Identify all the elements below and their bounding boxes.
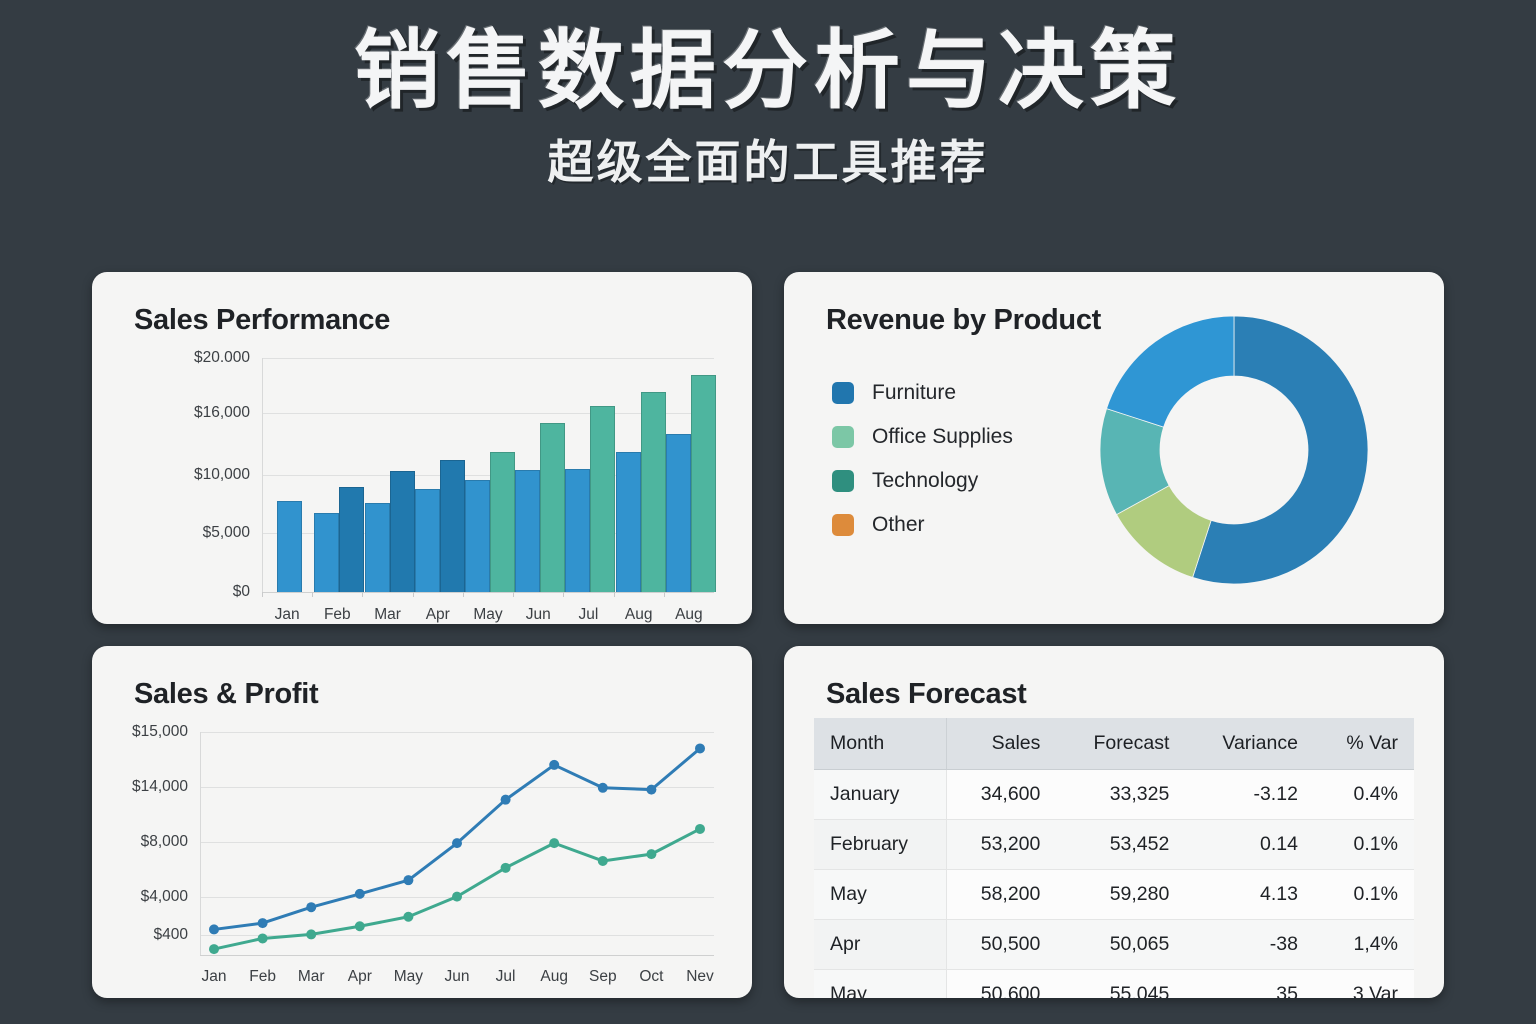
bar-chart-x-tick-label: Jul (579, 606, 599, 624)
bar-chart-x-tick (262, 592, 263, 597)
sales-forecast-table[interactable]: MonthSalesForecastVariance% Var January3… (814, 718, 1414, 998)
table-cell: 53,200 (946, 820, 1056, 870)
line-chart-data-point[interactable]: Sales Mar: 3000 (306, 902, 316, 912)
table-header-row: MonthSalesForecastVariance% Var (814, 718, 1414, 770)
bar-chart-bar[interactable] (641, 392, 666, 592)
table-cell: 58,200 (946, 870, 1056, 920)
bar-chart-x-tick-label: Apr (426, 606, 450, 624)
line-chart-data-point[interactable]: Profit Jan: 130 (209, 944, 219, 954)
donut-legend[interactable]: FurnitureOffice SuppliesTechnologyOther (832, 380, 1013, 556)
card-sales-forecast[interactable]: Sales Forecast MonthSalesForecastVarianc… (784, 646, 1444, 998)
donut-legend-item[interactable]: Furniture (832, 380, 1013, 406)
bar-chart-bar[interactable] (390, 471, 415, 592)
bar-chart-bar[interactable] (339, 487, 364, 592)
bar-chart-x-tick-label: Aug (675, 606, 703, 624)
bar-chart-y-tick-label: $0 (92, 583, 250, 601)
table-row[interactable]: February53,20053,4520.140.1% (814, 820, 1414, 870)
table-cell: 34,600 (946, 770, 1056, 820)
line-chart-data-point[interactable]: Sales Jan: 900 (209, 924, 219, 934)
bar-chart-x-tick-label: Aug (625, 606, 653, 624)
line-chart-x-tick-label: Oct (639, 968, 663, 986)
bar-chart-bar[interactable] (490, 452, 515, 592)
donut-legend-label: Technology (872, 469, 978, 493)
line-chart-data-point[interactable]: Profit Oct: 7100 (646, 849, 656, 859)
table-cell: January (814, 770, 946, 820)
bar-chart-bar[interactable] (666, 434, 691, 592)
table-cell: 53,452 (1056, 820, 1185, 870)
bar-chart-y-tick-label: $10,000 (92, 466, 250, 484)
card-revenue-by-product[interactable]: Revenue by Product FurnitureOffice Suppl… (784, 272, 1444, 624)
legend-color-swatch-icon (832, 470, 854, 492)
bar-chart-x-tick (413, 592, 414, 597)
line-chart-x-tick-label: Feb (249, 968, 276, 986)
bar-chart-x-tick (563, 592, 564, 597)
line-chart-data-point[interactable]: Sales Oct: 13700 (646, 785, 656, 795)
line-chart-data-point[interactable]: Sales Feb: 1500 (258, 918, 268, 928)
table-column-header[interactable]: Sales (946, 718, 1056, 770)
bar-chart-bar[interactable] (565, 469, 590, 592)
table-cell: May (814, 870, 946, 920)
card-title-revenue-by-product: Revenue by Product (826, 304, 1101, 337)
table-cell: 0.1% (1314, 870, 1414, 920)
card-title-sales-performance: Sales Performance (134, 304, 390, 337)
line-chart-x-tick-label: Jan (202, 968, 227, 986)
line-chart-x-tick-label: Sep (589, 968, 617, 986)
table-row[interactable]: May50,60055,045353 Var (814, 970, 1414, 999)
line-chart-data-point[interactable]: Profit May: 2100 (403, 912, 413, 922)
line-chart-data-point[interactable]: Profit Nev: 9400 (695, 824, 705, 834)
bar-chart-x-tick (312, 592, 313, 597)
line-chart-x-tick-label: Jul (496, 968, 516, 986)
line-chart-y-tick-label: $15,000 (92, 723, 188, 741)
table-cell: 4.13 (1185, 870, 1314, 920)
line-chart-x-tick-label: Apr (348, 968, 372, 986)
donut-legend-label: Other (872, 513, 925, 537)
line-chart-x-tick-label: Mar (298, 968, 325, 986)
line-chart-data-point[interactable]: Sales Aug: 14400 (549, 760, 559, 770)
table-cell: -38 (1185, 920, 1314, 970)
bar-chart-plot-area[interactable] (262, 358, 714, 592)
table-body[interactable]: January34,60033,325-3.120.4%February53,2… (814, 770, 1414, 999)
donut-slice[interactable]: Office Supplies: 20% (1107, 316, 1234, 427)
line-chart-data-point[interactable]: Profit Feb: 330 (258, 933, 268, 943)
table-row[interactable]: Apr50,50050,065-381,4% (814, 920, 1414, 970)
table-column-header[interactable]: % Var (1314, 718, 1414, 770)
table-cell: 59,280 (1056, 870, 1185, 920)
line-chart-svg: Sales Jan: 900Sales Feb: 1500Sales Mar: … (200, 732, 714, 956)
line-chart-plot-area[interactable]: Sales Jan: 900Sales Feb: 1500Sales Mar: … (200, 732, 714, 956)
table-cell: 50,065 (1056, 920, 1185, 970)
card-sales-performance[interactable]: Sales Performance $20.000$16,000$10,000$… (92, 272, 752, 624)
line-chart-data-point[interactable]: Profit Jun: 4000 (452, 892, 462, 902)
bar-chart-bar[interactable] (590, 406, 615, 592)
bar-chart-bar[interactable] (415, 489, 440, 592)
table-column-header[interactable]: Month (814, 718, 946, 770)
line-chart-data-point[interactable]: Sales May: 5200 (403, 875, 413, 885)
card-title-sales-forecast: Sales Forecast (826, 678, 1027, 711)
bar-chart-x-tick-label: Feb (324, 606, 351, 624)
donut-legend-label: Furniture (872, 381, 956, 405)
donut-legend-item[interactable]: Other (832, 512, 1013, 538)
line-chart-data-point[interactable]: Sales Apr: 4200 (355, 889, 365, 899)
line-chart-data-point[interactable]: Profit Jul: 6100 (501, 863, 511, 873)
bar-chart-bar[interactable] (314, 513, 339, 592)
line-chart-data-point[interactable]: Sales Sep: 13900 (598, 783, 608, 793)
bar-chart-y-tick-label: $20.000 (92, 349, 250, 367)
bar-chart-x-tick-label: Mar (374, 606, 401, 624)
bar-chart-x-tick (614, 592, 615, 597)
bar-chart-bar[interactable] (515, 470, 540, 592)
card-sales-profit[interactable]: Sales & Profit Sales Jan: 900Sales Feb: … (92, 646, 752, 998)
card-title-sales-profit: Sales & Profit (134, 678, 318, 711)
page-subtitle: 超级全面的工具推荐 (0, 126, 1536, 192)
legend-color-swatch-icon (832, 426, 854, 448)
table-cell: 0.4% (1314, 770, 1414, 820)
line-chart-x-tick-label: May (394, 968, 423, 986)
bar-chart-bar[interactable] (277, 501, 302, 592)
table-row[interactable]: May58,20059,2804.130.1% (814, 870, 1414, 920)
line-chart-data-point[interactable]: Sales Jun: 7900 (452, 838, 462, 848)
line-chart-data-point[interactable]: Profit Aug: 7900 (549, 838, 559, 848)
line-chart-data-point[interactable]: Profit Sep: 6600 (598, 856, 608, 866)
table-cell: 55,045 (1056, 970, 1185, 999)
bar-chart-bar[interactable] (616, 452, 641, 592)
table-cell: Apr (814, 920, 946, 970)
donut-chart-svg: Furniture: 55%Other: 12%Technology: 13%O… (1084, 300, 1384, 600)
line-chart-y-tick-label: $400 (92, 926, 188, 944)
line-chart-y-tick-label: $14,000 (92, 778, 188, 796)
legend-color-swatch-icon (832, 514, 854, 536)
table-cell: -3.12 (1185, 770, 1314, 820)
line-chart-y-tick-label: $8,000 (92, 833, 188, 851)
table-cell: 50,600 (946, 970, 1056, 999)
line-chart-data-point[interactable]: Profit Apr: 1200 (355, 921, 365, 931)
bar-chart-x-tick-label: May (473, 606, 502, 624)
bar-chart-x-tick (463, 592, 464, 597)
bar-chart-bar[interactable] (365, 503, 390, 592)
table-column-header[interactable]: Variance (1185, 718, 1314, 770)
line-chart-x-tick-label: Nev (686, 968, 714, 986)
line-chart-data-point[interactable]: Sales Jul: 12600 (501, 795, 511, 805)
dashboard-card-grid: Sales Performance $20.000$16,000$10,000$… (92, 272, 1444, 998)
dashboard-header: 销售数据分析与决策 超级全面的工具推荐 (0, 0, 1536, 192)
bar-chart-x-tick (513, 592, 514, 597)
donut-legend-item[interactable]: Technology (832, 468, 1013, 494)
table-cell: 0.1% (1314, 820, 1414, 870)
table-cell: 3 Var (1314, 970, 1414, 999)
bar-chart-y-axis-line (262, 358, 263, 592)
donut-legend-label: Office Supplies (872, 425, 1013, 449)
table-column-header[interactable]: Forecast (1056, 718, 1185, 770)
line-chart-y-tick-label: $4,000 (92, 888, 188, 906)
bar-chart-x-tick-label: Jun (526, 606, 551, 624)
bar-chart-bar[interactable] (540, 423, 565, 592)
bar-chart-x-tick (362, 592, 363, 597)
bar-chart-x-tick (664, 592, 665, 597)
line-chart-x-tick-label: Aug (540, 968, 568, 986)
line-chart-x-tick-label: Jun (445, 968, 470, 986)
table-cell: February (814, 820, 946, 870)
table-cell: 0.14 (1185, 820, 1314, 870)
bar-chart-y-tick-label: $5,000 (92, 524, 250, 542)
bar-chart-bar[interactable] (440, 460, 465, 593)
table-cell: 33,325 (1056, 770, 1185, 820)
table-cell: May (814, 970, 946, 999)
line-chart-data-point[interactable]: Profit Mar: 430 (306, 929, 316, 939)
table-cell: 1,4% (1314, 920, 1414, 970)
legend-color-swatch-icon (832, 382, 854, 404)
bar-chart-y-tick-label: $16,000 (92, 404, 250, 422)
bar-chart-bar[interactable] (691, 375, 716, 593)
donut-legend-item[interactable]: Office Supplies (832, 424, 1013, 450)
line-chart-data-point[interactable]: Sales Nev: 14700 (695, 743, 705, 753)
bar-chart-bar[interactable] (465, 480, 490, 592)
table-row[interactable]: January34,60033,325-3.120.4% (814, 770, 1414, 820)
bar-chart-gridline (262, 358, 714, 359)
bar-chart-x-tick-label: Jan (275, 606, 300, 624)
donut-chart[interactable]: Furniture: 55%Other: 12%Technology: 13%O… (1084, 300, 1384, 600)
page-title: 销售数据分析与决策 (0, 26, 1536, 116)
table-cell: 50,500 (946, 920, 1056, 970)
table-cell: 35 (1185, 970, 1314, 999)
